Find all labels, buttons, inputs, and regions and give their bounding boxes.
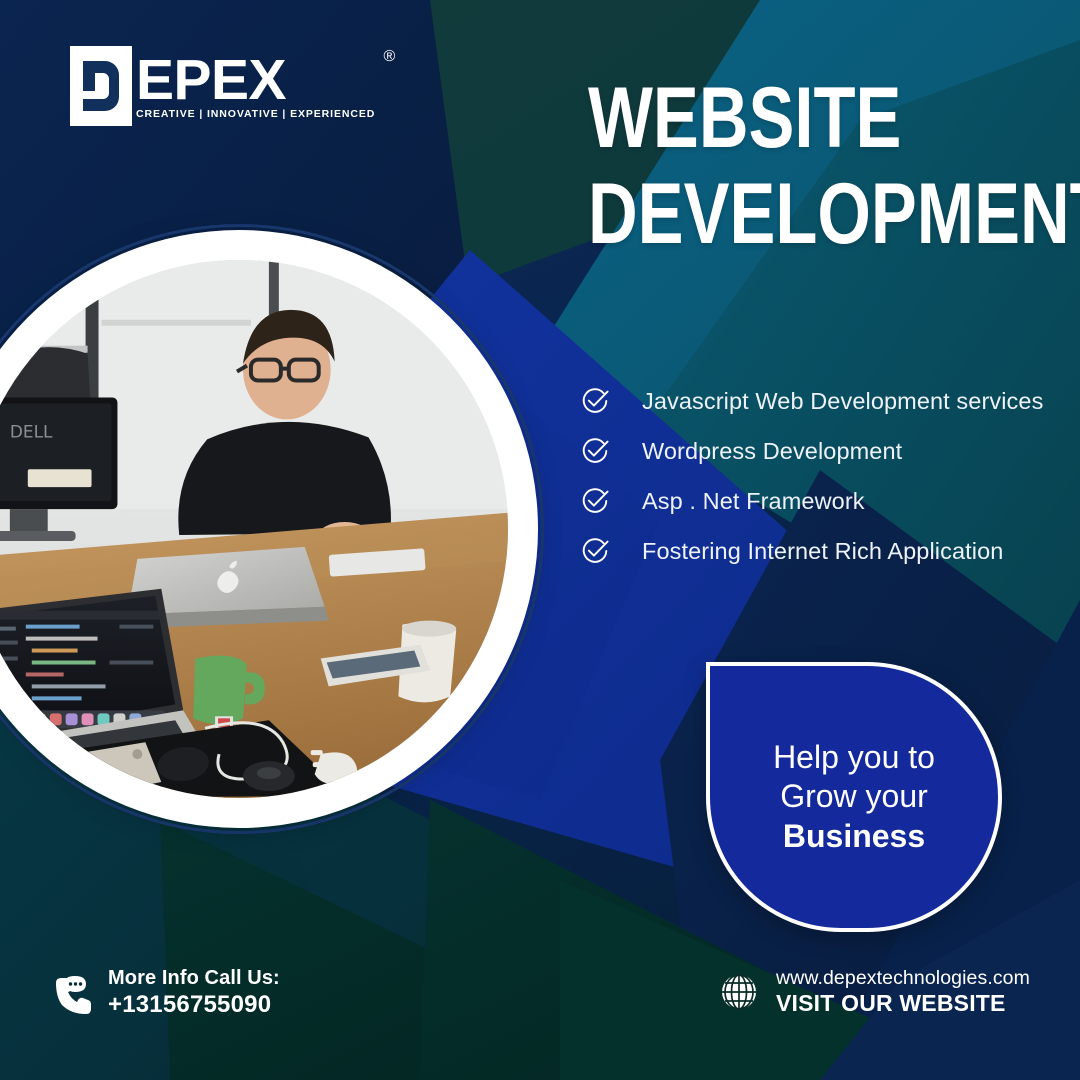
check-circle-icon [578,384,612,418]
list-item: Asp . Net Framework [578,476,1078,526]
logo-name: EPEX [136,54,375,106]
list-item: Wordpress Development [578,426,1078,476]
contact-phone-number: +13156755090 [108,991,280,1020]
cta-line-1: Help you to [773,738,935,777]
page-title: WEBSITE DEVELOPMENT [588,78,1058,255]
check-circle-icon [578,534,612,568]
contact-phone-text: More Info Call Us: +13156755090 [108,966,280,1020]
check-circle-icon [578,484,612,518]
website-cta-label: VISIT OUR WEBSITE [776,990,1030,1018]
service-label: Fostering Internet Rich Application [642,538,1003,565]
contact-phone-label: More Info Call Us: [108,966,280,991]
service-label: Asp . Net Framework [642,488,865,515]
photo-circle: DELL [0,224,544,834]
website-url: www.depextechnologies.com [776,966,1030,990]
cta-line-3: Business [783,817,925,856]
logo-tagline: CREATIVE | INNOVATIVE | EXPERIENCED [136,108,375,120]
website-link[interactable]: www.depextechnologies.com VISIT OUR WEBS… [716,966,1030,1018]
check-circle-icon [578,434,612,468]
cta-badge[interactable]: Help you to Grow your Business [706,662,1002,932]
svg-text:DELL: DELL [10,421,53,441]
depex-d-mark-icon [70,46,132,126]
services-list: Javascript Web Development services Word… [578,376,1078,576]
logo-wordmark: EPEX ® CREATIVE | INNOVATIVE | EXPERIENC… [136,46,375,120]
website-text: www.depextechnologies.com VISIT OUR WEBS… [776,966,1030,1018]
globe-icon [716,969,762,1015]
headline-line-2: DEVELOPMENT [588,174,964,256]
list-item: Fostering Internet Rich Application [578,526,1078,576]
social-media-poster: EPEX ® CREATIVE | INNOVATIVE | EXPERIENC… [0,0,1080,1080]
brand-logo[interactable]: EPEX ® CREATIVE | INNOVATIVE | EXPERIENC… [70,46,375,126]
phone-chat-icon [48,970,94,1016]
cta-line-2: Grow your [780,777,928,816]
registered-trademark-icon: ® [383,48,395,66]
service-label: Javascript Web Development services [642,388,1043,415]
service-label: Wordpress Development [642,438,902,465]
contact-phone[interactable]: More Info Call Us: +13156755090 [48,966,280,1020]
list-item: Javascript Web Development services [578,376,1078,426]
headline-line-1: WEBSITE [588,78,964,160]
